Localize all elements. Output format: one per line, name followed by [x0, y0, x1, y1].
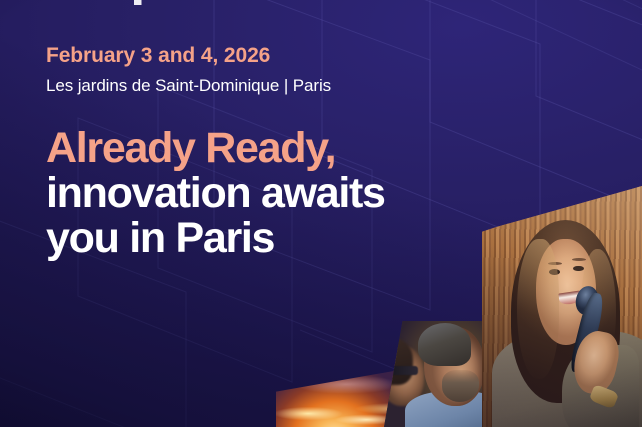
headline-line-2: innovation awaits	[46, 171, 385, 216]
headline-line-1: Already Ready,	[46, 126, 385, 171]
event-venue: Les jardins de Saint-Dominique | Paris	[46, 76, 331, 96]
event-date: February 3 and 4, 2026	[46, 44, 270, 68]
banner-content: February 3 and 4, 2026 Les jardins de Sa…	[0, 0, 642, 427]
headline-line-3: you in Paris	[46, 216, 385, 261]
page-title: Already Ready, innovation awaits you in …	[46, 126, 385, 261]
event-banner: February 3 and 4, 2026 Les jardins de Sa…	[0, 0, 642, 427]
